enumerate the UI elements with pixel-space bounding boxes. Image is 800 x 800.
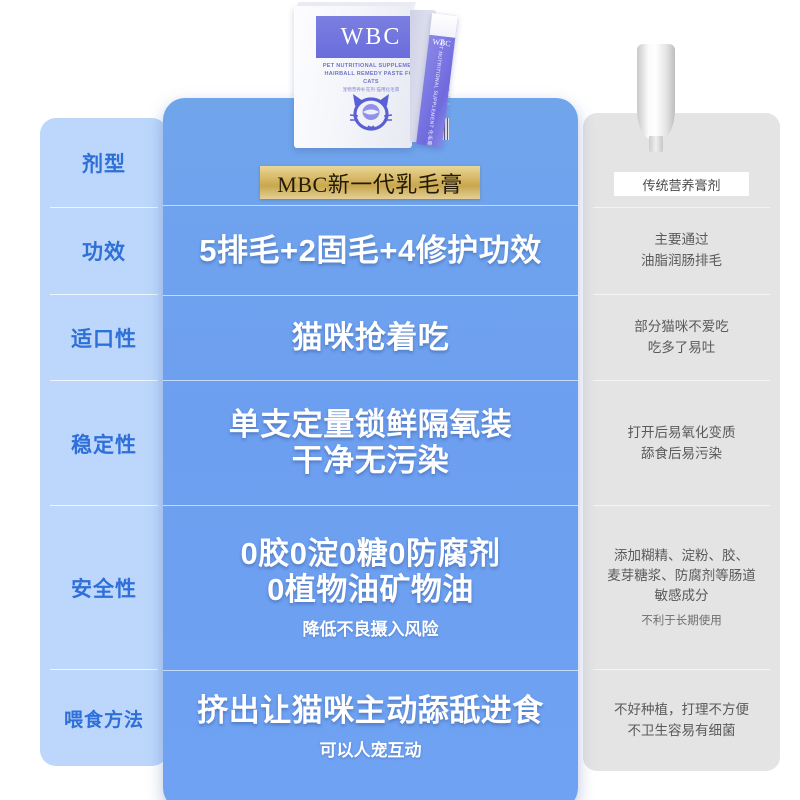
attribute-label-column: 剂型 功效 适口性 稳定性 安全性 喂食方法 xyxy=(40,118,168,766)
label-rows: 剂型 功效 适口性 稳定性 安全性 喂食方法 xyxy=(40,118,168,766)
tube-body xyxy=(637,44,675,139)
label-text: 剂型 xyxy=(82,148,126,178)
product-text: 挤出让猫咪主动舔舐进食 xyxy=(197,693,544,729)
product-text: 单支定量锁鲜隔氧装 干净无污染 xyxy=(229,407,513,479)
label-text: 安全性 xyxy=(71,573,137,603)
product-package-image: WBC PET NUTRITIONAL SUPPLEMENT HAIRBALL … xyxy=(276,0,526,150)
box-line-2: HAIRBALL REMEDY PASTE FOR CATS xyxy=(318,70,424,86)
competitor-tube-image xyxy=(637,44,675,150)
competitor-cell-efficacy: 主要通过 油脂润肠排毛 xyxy=(583,208,780,293)
product-text: 5排毛+2固毛+4修护功效 xyxy=(199,233,541,269)
product-box: WBC PET NUTRITIONAL SUPPLEMENT HAIRBALL … xyxy=(294,6,412,148)
label-row-dosage-form: 剂型 xyxy=(40,118,168,208)
competitor-cell-feeding-method: 不好种植，打理不方便 不卫生容易有细菌 xyxy=(583,670,780,771)
product-cell-stability: 单支定量锁鲜隔氧装 干净无污染 xyxy=(163,381,578,505)
product-text: 猫咪抢着吃 xyxy=(292,320,450,356)
product-name-banner: MBC新一代乳毛膏 xyxy=(260,166,480,199)
product-rows: 5排毛+2固毛+4修护功效 猫咪抢着吃 单支定量锁鲜隔氧装 干净无污染 0胶0淀… xyxy=(163,98,578,800)
box-brand-text: WBC xyxy=(341,24,402,51)
label-row-palatability: 适口性 xyxy=(40,295,168,380)
product-cell-efficacy: 5排毛+2固毛+4修护功效 xyxy=(163,206,578,295)
competitor-text: 打开后易氧化变质 舔食后易污染 xyxy=(628,423,736,464)
box-line-1: PET NUTRITIONAL SUPPLEMENT xyxy=(318,62,424,70)
label-text: 稳定性 xyxy=(71,429,137,459)
competitor-name-chip: 传统营养膏剂 xyxy=(614,172,749,196)
label-row-feeding-method: 喂食方法 xyxy=(40,670,168,766)
competitor-name-text: 传统营养膏剂 xyxy=(642,175,720,194)
competitor-text: 添加糊精、淀粉、胶、 麦芽糖浆、防腐剂等肠道 敏感成分 xyxy=(607,546,756,607)
tube-cap xyxy=(649,136,663,152)
product-column: 5排毛+2固毛+4修护功效 猫咪抢着吃 单支定量锁鲜隔氧装 干净无污染 0胶0淀… xyxy=(163,98,578,800)
label-row-safety: 安全性 xyxy=(40,506,168,670)
label-text: 功效 xyxy=(82,236,126,266)
product-subtext: 可以人宠互动 xyxy=(320,736,422,761)
competitor-text: 主要通过 油脂润肠排毛 xyxy=(641,230,722,271)
product-name-text: MBC新一代乳毛膏 xyxy=(277,167,462,199)
sachet-seal xyxy=(429,13,457,38)
product-subtext: 降低不良摄入风险 xyxy=(303,615,439,640)
sachet-description-text: PET NUTRITIONAL SUPPLEMENT 化毛膏 xyxy=(429,38,446,120)
competitor-cell-stability: 打开后易氧化变质 舔食后易污染 xyxy=(583,381,780,506)
label-row-efficacy: 功效 xyxy=(40,208,168,293)
competitor-cell-safety: 添加糊精、淀粉、胶、 麦芽糖浆、防腐剂等肠道 敏感成分 不利于长期使用 xyxy=(583,506,780,670)
product-cell-safety: 0胶0淀0糖0防腐剂 0植物油矿物油 降低不良摄入风险 xyxy=(163,506,578,670)
competitor-text: 不好种植，打理不方便 不卫生容易有细菌 xyxy=(614,700,749,741)
competitor-subtext: 不利于长期使用 xyxy=(641,613,722,630)
comparison-infographic: WBC PET NUTRITIONAL SUPPLEMENT HAIRBALL … xyxy=(0,0,800,800)
product-cell-feeding-method: 挤出让猫咪主动舔舐进食 可以人宠互动 xyxy=(163,671,578,783)
product-text: 0胶0淀0糖0防腐剂 0植物油矿物油 xyxy=(241,536,501,608)
competitor-cell-palatability: 部分猫咪不爱吃 吃多了易吐 xyxy=(583,295,780,380)
label-text: 喂食方法 xyxy=(64,705,144,732)
competitor-rows: 主要通过 油脂润肠排毛 部分猫咪不爱吃 吃多了易吐 打开后易氧化变质 舔食后易污… xyxy=(583,113,780,771)
competitor-text: 部分猫咪不爱吃 吃多了易吐 xyxy=(634,317,729,358)
product-cell-palatability: 猫咪抢着吃 xyxy=(163,296,578,380)
label-text: 适口性 xyxy=(71,323,137,353)
competitor-column: 主要通过 油脂润肠排毛 部分猫咪不爱吃 吃多了易吐 打开后易氧化变质 舔食后易污… xyxy=(583,113,780,771)
cat-face-icon xyxy=(346,90,396,134)
label-row-stability: 稳定性 xyxy=(40,381,168,506)
